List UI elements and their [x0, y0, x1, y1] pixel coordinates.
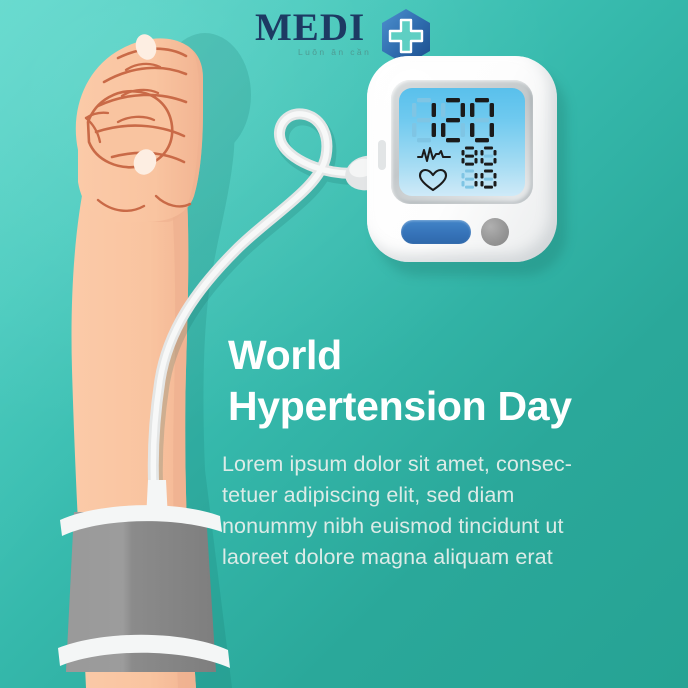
body-line: nonummy nibh euismod tincidunt ut	[222, 511, 674, 542]
power-button[interactable]	[481, 218, 509, 246]
heart-icon	[418, 168, 448, 192]
monitor-button-panel	[401, 216, 525, 248]
body-line: laoreet dolore magna aliquam erat	[222, 542, 674, 573]
body-line: Lorem ipsum dolor sit amet, consec-	[222, 449, 674, 480]
digit-1	[461, 169, 478, 189]
page-title: World Hypertension Day	[228, 330, 676, 432]
screen-bezel	[391, 80, 533, 204]
brand-tagline: Luôn ân cần	[298, 47, 371, 57]
monitor-side-notch	[378, 140, 386, 170]
start-button[interactable]	[401, 220, 471, 244]
fist	[76, 32, 203, 222]
brand-name: MEDI	[255, 8, 365, 48]
digit-2	[480, 169, 497, 189]
poster-canvas: MEDI Luôn ân cần	[0, 0, 688, 688]
ecg-wave-icon	[417, 146, 451, 164]
blood-pressure-monitor	[367, 56, 567, 272]
digit-3	[469, 97, 495, 143]
digit-2	[440, 97, 466, 143]
pulse-reading	[461, 146, 497, 166]
body-copy: Lorem ipsum dolor sit amet, consec- tetu…	[222, 449, 674, 573]
title-line-1: World	[228, 330, 676, 381]
heart-rate-reading	[461, 169, 497, 189]
title-line-2: Hypertension Day	[228, 381, 676, 432]
body-line: tetuer adipiscing elit, sed diam	[222, 480, 674, 511]
monitor-body	[367, 56, 557, 262]
digit-1	[461, 146, 478, 166]
digit-1	[411, 97, 437, 143]
lcd-screen	[399, 88, 525, 196]
systolic-reading	[411, 97, 495, 143]
digit-2	[480, 146, 497, 166]
